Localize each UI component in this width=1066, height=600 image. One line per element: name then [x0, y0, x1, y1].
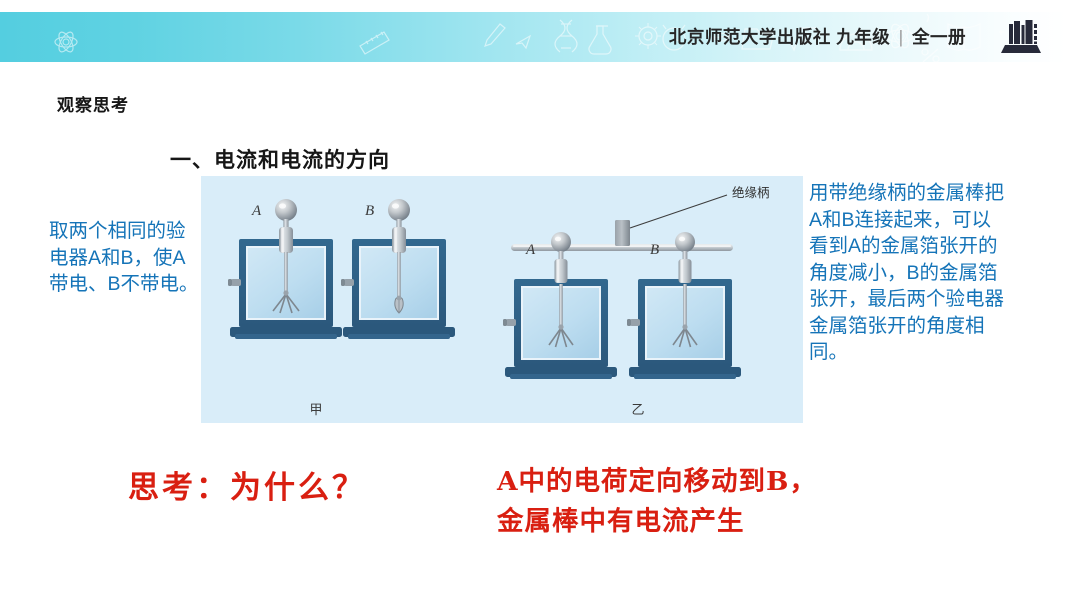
page-title: 一、电流和电流的方向 — [170, 144, 390, 174]
insulating-handle — [615, 220, 630, 246]
header-separator: | — [896, 27, 907, 47]
answer-text: A中的电荷定向移动到B， 金属棒中有电流产生 — [497, 462, 817, 542]
figure-panel-jia: A B 甲 — [228, 199, 455, 417]
figure-panel-yi: 绝缘柄 A — [503, 185, 770, 417]
electroscope-label-jia-B: B — [365, 203, 374, 219]
figure-caption-yi: 乙 — [631, 402, 644, 417]
header-grade: 九年级 — [836, 27, 890, 47]
electroscope-diagram: A B 甲 — [201, 176, 803, 423]
left-annotation-text: 取两个相同的验电器A和B，使A带电、B不带电。 — [49, 218, 201, 298]
header-volume: 全一册 — [912, 27, 966, 47]
question-text: 思考：为什么？ — [128, 462, 366, 507]
electroscope-label-yi-A: A — [525, 242, 536, 258]
electroscope-yi-A — [503, 232, 617, 379]
insulating-handle-label: 绝缘柄 — [732, 185, 770, 200]
header-publisher: 北京师范大学出版社 — [669, 27, 831, 47]
electroscope-jia-B — [341, 199, 455, 339]
insulating-handle-leader-line — [630, 195, 727, 228]
right-annotation-text: 用带绝缘柄的金属棒把A和B连接起来，可以看到A的金属箔张开的角度减小，B的金属箔… — [809, 180, 1009, 366]
electroscope-label-yi-B: B — [650, 242, 659, 258]
electroscope-yi-B — [627, 232, 741, 379]
books-shelf-icon — [1001, 19, 1041, 55]
header-title: 北京师范大学出版社 九年级 | 全一册 — [669, 12, 966, 62]
figure-caption-jia: 甲 — [309, 402, 322, 417]
electroscope-jia-A — [228, 199, 342, 339]
electroscope-label-jia-A: A — [251, 203, 262, 219]
page-section-label: 观察思考 — [57, 91, 129, 116]
experiment-figure: A B 甲 — [201, 176, 803, 423]
